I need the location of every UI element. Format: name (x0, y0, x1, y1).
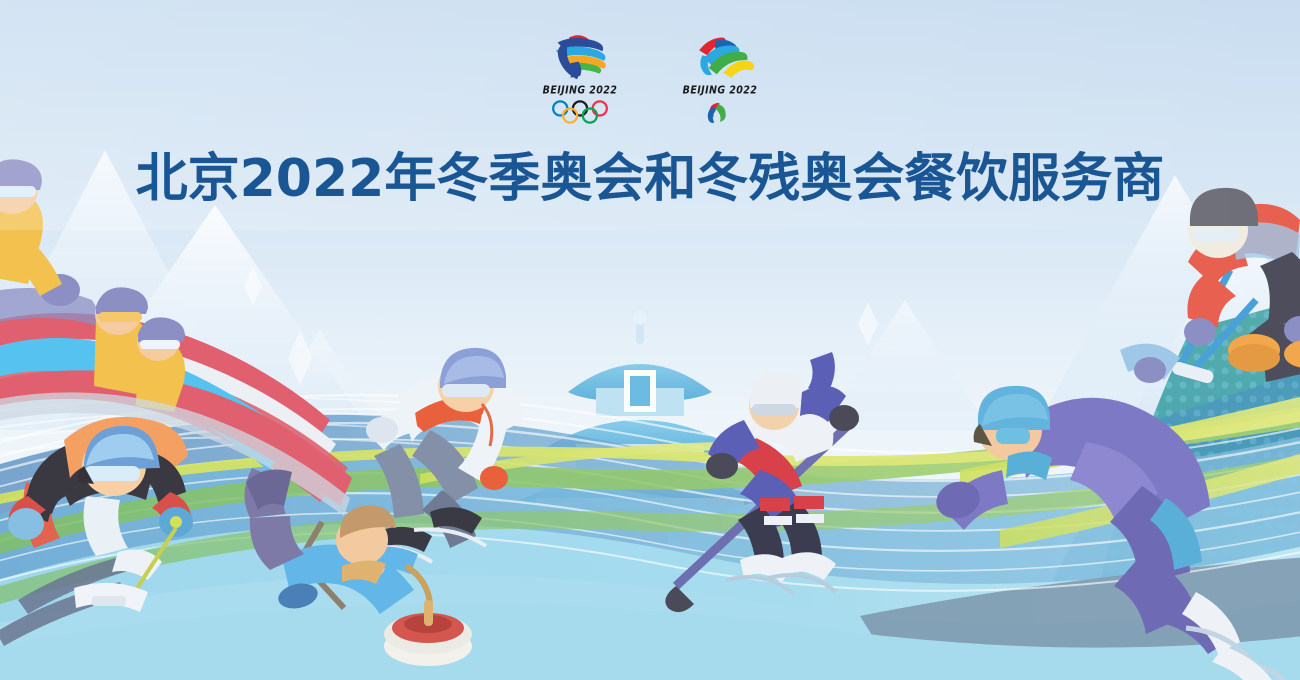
paralympic-agitos (684, 100, 756, 124)
beijing-2022-olympic-emblem: BEIJING 2022 (534, 30, 626, 124)
paralympic-emblem-mark (680, 30, 760, 82)
olympic-rings (544, 100, 616, 124)
emblem-row: BEIJING 2022 BEIJING 20 (0, 30, 1300, 124)
paralympic-wordmark: BEIJING 2022 (683, 84, 758, 97)
olympic-banner: BEIJING 2022 BEIJING 20 (0, 0, 1300, 680)
olympic-wordmark: BEIJING 2022 (543, 84, 618, 97)
olympic-emblem-mark (540, 30, 620, 82)
beijing-2022-paralympic-emblem: BEIJING 2022 (674, 30, 766, 124)
bobsleigh-rider-3 (136, 317, 185, 412)
page-title: 北京2022年冬季奥会和冬残奥会餐饮服务商 (0, 148, 1300, 210)
